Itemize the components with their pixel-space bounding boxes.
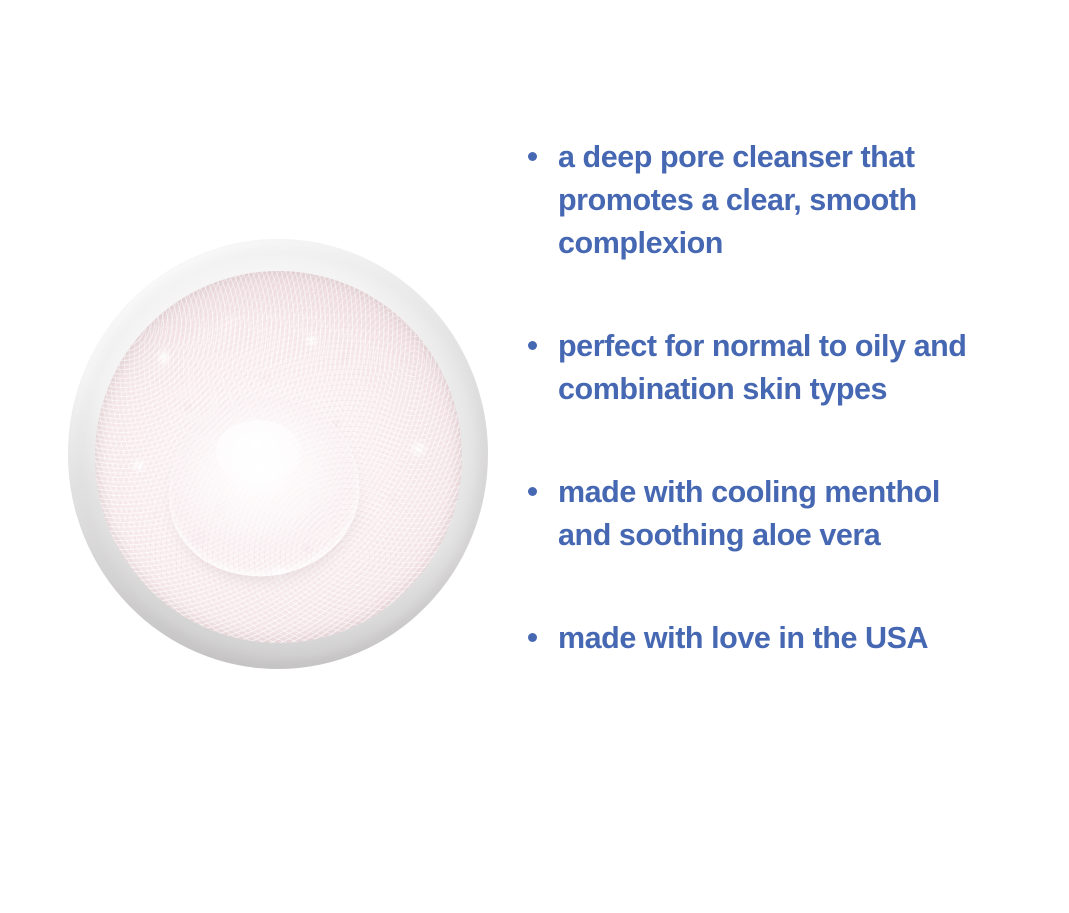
feature-text: made with cooling menthol and soothing a…: [558, 471, 940, 557]
bullet-dot-icon: [528, 633, 537, 642]
feature-list: a deep pore cleanser that promotes a cle…: [528, 136, 1069, 660]
bullet-dot-icon: [528, 487, 537, 496]
feature-list-item: made with love in the USA: [528, 617, 1069, 660]
feature-list-item: a deep pore cleanser that promotes a cle…: [528, 136, 1069, 265]
powder-bowl: [95, 271, 463, 643]
jar-rim: [68, 239, 488, 669]
bullet-dot-icon: [528, 152, 537, 161]
feature-list-item: made with cooling menthol and soothing a…: [528, 471, 1069, 557]
feature-text: perfect for normal to oily and combinati…: [558, 325, 966, 411]
feature-text: made with love in the USA: [558, 617, 928, 660]
product-feature-callout: a deep pore cleanser that promotes a cle…: [0, 0, 1069, 913]
feature-list-item: perfect for normal to oily and combinati…: [528, 325, 1069, 411]
bullet-dot-icon: [528, 341, 537, 350]
feature-text: a deep pore cleanser that promotes a cle…: [558, 136, 917, 265]
bowl-inner-shadow: [95, 271, 463, 643]
product-photo: [68, 239, 488, 669]
